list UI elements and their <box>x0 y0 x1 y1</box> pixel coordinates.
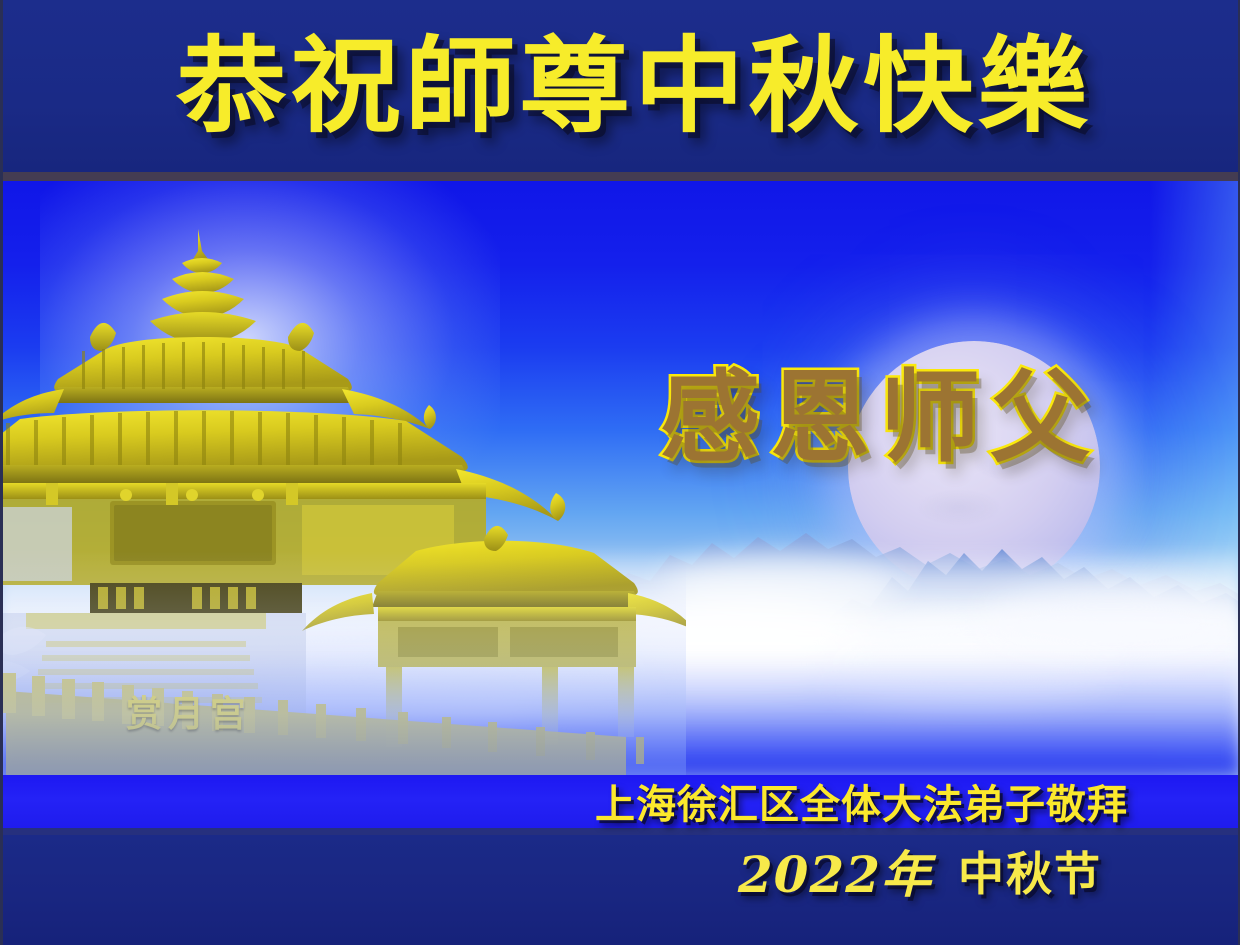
scene-background: 赏月宫 <box>0 181 1240 775</box>
page-title-text: 恭祝師尊中秋快樂 <box>176 34 1092 138</box>
roof-tiles-lower <box>6 411 402 465</box>
temple-plaque: 赏月宫 <box>104 679 274 743</box>
greeting-card: 赏月宫 感恩师父 恭祝師尊中秋快樂 上海徐汇区全体大法弟子敬拜 2022年 中秋… <box>0 0 1240 945</box>
page-title: 恭祝師尊中秋快樂 <box>0 0 1240 172</box>
cloud-puff <box>980 585 1240 665</box>
gratitude-text: 感恩师父 <box>660 368 1100 468</box>
golden-pagoda-gate: 赏月宫 <box>0 221 686 775</box>
signature-line: 上海徐汇区全体大法弟子敬拜 <box>0 770 1240 832</box>
pagoda-spire <box>150 229 256 343</box>
year-text: 2022年 <box>738 835 932 907</box>
date-line: 2022年 中秋节 <box>0 835 1240 907</box>
header-separator <box>0 172 1240 181</box>
festival-text: 中秋节 <box>958 838 1102 904</box>
cloud-puff <box>660 557 900 619</box>
